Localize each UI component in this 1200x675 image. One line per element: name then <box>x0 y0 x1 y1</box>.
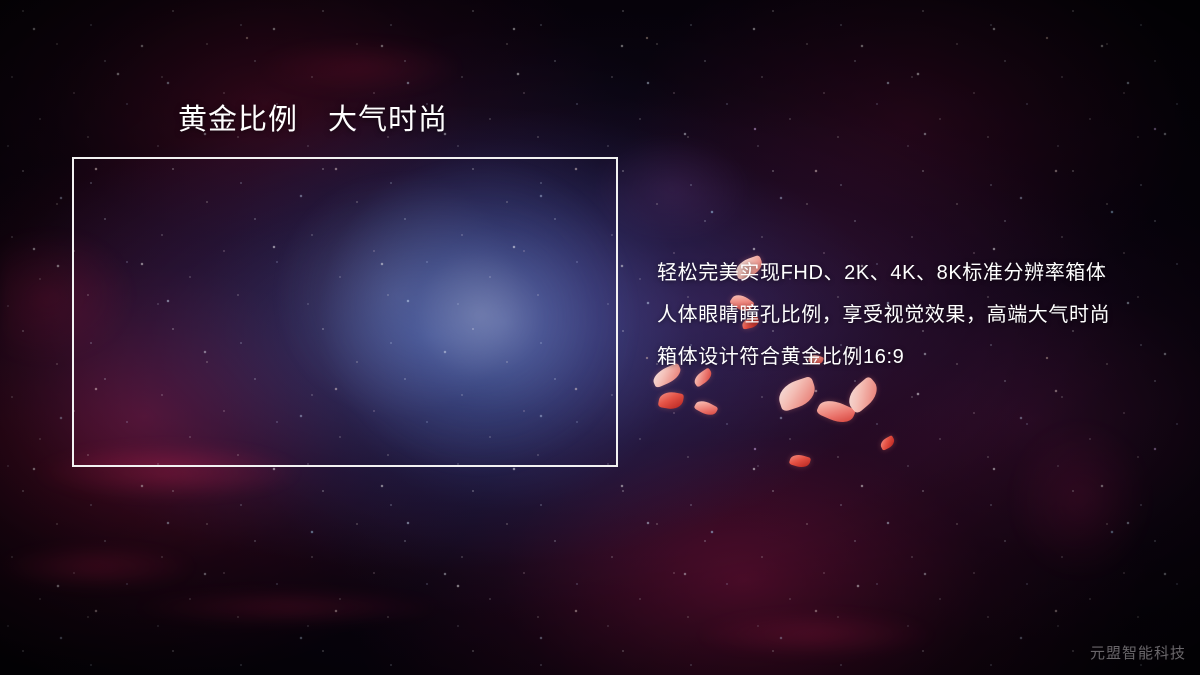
framed-nebula-background <box>74 159 616 465</box>
body-copy: 轻松完美实现FHD、2K、4K、8K标准分辨率箱体 人体眼睛瞳孔比例，享受视觉效… <box>657 252 1157 378</box>
watermark: 元盟智能科技 <box>1090 642 1186 663</box>
rose-petal <box>843 376 883 415</box>
framed-nebula-filaments <box>74 159 616 465</box>
body-line-1: 轻松完美实现FHD、2K、4K、8K标准分辨率箱体 <box>657 252 1157 294</box>
rose-petal <box>658 390 685 411</box>
rose-petal <box>775 376 819 412</box>
page-title: 黄金比例 大气时尚 <box>178 102 448 138</box>
rose-petal <box>789 452 812 469</box>
framed-nebula-core-glow <box>74 159 616 465</box>
body-line-3: 箱体设计符合黄金比例16:9 <box>657 336 1157 378</box>
body-line-2: 人体眼睛瞳孔比例，享受视觉效果，高端大气时尚 <box>657 294 1157 336</box>
slide-canvas: 黄金比例 大气时尚 轻松完美实现FHD、2K、4K、8K标准分辨率箱体 人体眼睛… <box>0 0 1200 675</box>
framed-picture-content <box>74 159 616 465</box>
framed-starfield-small <box>74 159 616 465</box>
rose-petal <box>816 396 857 428</box>
framed-starfield-medium <box>74 159 616 465</box>
framed-picture <box>72 157 618 467</box>
rose-petal <box>879 435 897 451</box>
rose-petal <box>693 398 718 419</box>
